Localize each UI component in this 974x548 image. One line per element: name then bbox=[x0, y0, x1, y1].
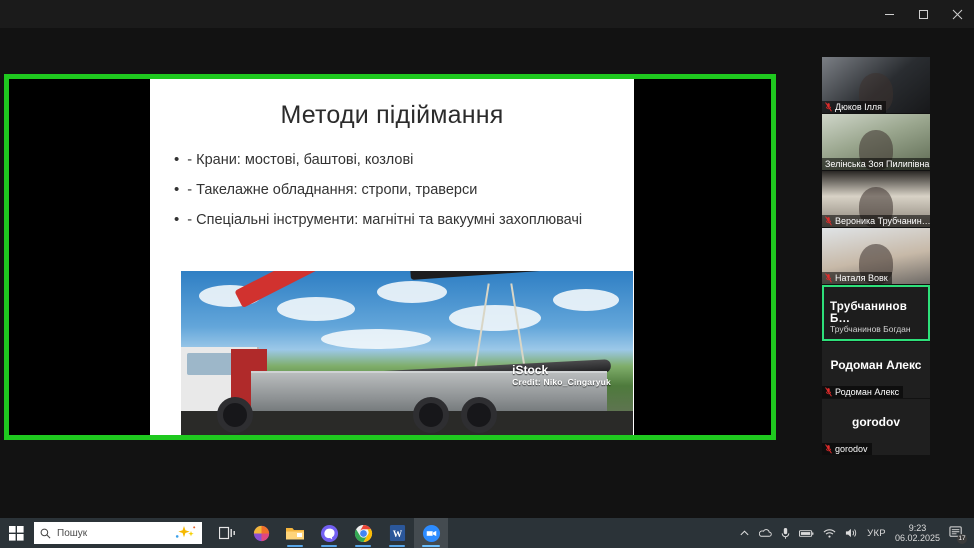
participant-tile[interactable]: Наталя Вовк bbox=[822, 228, 930, 284]
bullet-marker: • bbox=[174, 150, 179, 170]
bullet-marker: • bbox=[174, 210, 179, 230]
onedrive-icon[interactable] bbox=[759, 527, 772, 539]
bullet-text: - Такелажне обладнання: стропи, траверси bbox=[187, 180, 634, 201]
wifi-icon[interactable] bbox=[823, 528, 836, 539]
taskbar-item-task-view[interactable] bbox=[210, 518, 244, 548]
taskbar-item-zoom[interactable] bbox=[414, 518, 448, 548]
system-tray: УКР 9:23 06.02.2025 17 bbox=[739, 523, 974, 544]
clock[interactable]: 9:23 06.02.2025 bbox=[895, 523, 940, 544]
minimize-button[interactable] bbox=[872, 0, 906, 28]
task-view-icon bbox=[219, 526, 236, 541]
taskbar-item-file-explorer[interactable] bbox=[278, 518, 312, 548]
slide-photo-truck-crane: iStock Credit: Niko_Cingaryuk bbox=[181, 271, 633, 435]
presentation-slide: Методи підіймання • - Крани: мостові, ба… bbox=[150, 79, 634, 435]
window-controls bbox=[872, 0, 974, 28]
zoom-meeting-window: Методи підіймання • - Крани: мостові, ба… bbox=[0, 0, 974, 548]
search-input[interactable]: Пошук bbox=[34, 522, 202, 544]
participant-name: Зелінська Зоя Пилипівна bbox=[825, 159, 929, 169]
clock-date: 06.02.2025 bbox=[895, 533, 940, 543]
start-button[interactable] bbox=[0, 518, 32, 548]
list-item: • - Крани: мостові, баштові, козлові bbox=[174, 150, 634, 171]
maximize-icon bbox=[918, 9, 929, 20]
copilot-sparkle-icon bbox=[174, 525, 196, 541]
bullet-text: - Крани: мостові, баштові, козлові bbox=[187, 150, 634, 171]
watermark-text: iStock bbox=[512, 363, 548, 377]
participant-tile[interactable]: Дюков Ілля bbox=[822, 57, 930, 113]
close-button[interactable] bbox=[940, 0, 974, 28]
language-indicator[interactable]: УКР bbox=[867, 528, 886, 539]
participant-name: Вероника Трубчанин… bbox=[835, 216, 930, 226]
volume-icon[interactable] bbox=[845, 527, 858, 539]
participant-name: Наталя Вовк bbox=[835, 273, 888, 283]
taskbar-item-chrome[interactable] bbox=[346, 518, 380, 548]
participant-name: Родоман Алекс bbox=[835, 387, 899, 397]
list-item: • - Такелажне обладнання: стропи, травер… bbox=[174, 180, 634, 201]
search-placeholder: Пошук bbox=[57, 528, 87, 539]
battery-icon[interactable] bbox=[799, 528, 814, 539]
zoom-icon bbox=[422, 524, 441, 543]
mic-muted-icon bbox=[825, 444, 832, 454]
participant-tile[interactable]: Родоман Алекс Родоман Алекс bbox=[822, 342, 930, 398]
participant-name-bar: gorodov bbox=[822, 443, 872, 455]
viber-icon bbox=[320, 524, 339, 543]
active-speaker-full-name: Трубчанинов Богдан bbox=[830, 324, 911, 334]
participant-name-bar: Вероника Трубчанин… bbox=[822, 215, 930, 227]
bullet-marker: • bbox=[174, 180, 179, 200]
mic-muted-icon bbox=[825, 216, 832, 226]
participant-display-name: Родоман Алекс bbox=[822, 358, 930, 372]
participant-display-name: gorodov bbox=[822, 415, 930, 429]
slide-title: Методи підіймання bbox=[150, 101, 634, 130]
crane-boom-upper bbox=[410, 271, 611, 280]
participant-name-bar: Зелінська Зоя Пилипівна bbox=[822, 158, 930, 170]
window-title-bar bbox=[0, 0, 974, 28]
notification-count: 17 bbox=[957, 534, 967, 544]
watermark-credit: Credit: Niko_Cingaryuk bbox=[512, 377, 611, 387]
participant-tile[interactable]: Зелінська Зоя Пилипівна bbox=[822, 114, 930, 170]
participant-name: gorodov bbox=[835, 444, 868, 454]
clock-time: 9:23 bbox=[895, 523, 940, 533]
notifications-button[interactable]: 17 bbox=[949, 525, 966, 542]
participant-name-bar: Наталя Вовк bbox=[822, 272, 892, 284]
windows-logo-icon bbox=[9, 526, 24, 541]
mic-muted-icon bbox=[825, 273, 832, 283]
photo-watermark: iStock Credit: Niko_Cingaryuk bbox=[512, 363, 611, 387]
bullet-text: - Спеціальні інструменти: магнітні та ва… bbox=[187, 210, 634, 231]
participant-name: Дюков Ілля bbox=[835, 102, 882, 112]
close-icon bbox=[952, 9, 963, 20]
participant-tile[interactable]: Вероника Трубчанин… bbox=[822, 171, 930, 227]
participant-name-bar: Дюков Ілля bbox=[822, 101, 886, 113]
taskbar-item-viber[interactable] bbox=[312, 518, 346, 548]
svg-text:W: W bbox=[392, 530, 402, 540]
windows-taskbar: Пошук bbox=[0, 518, 974, 548]
mic-muted-icon bbox=[825, 387, 832, 397]
chrome-icon bbox=[354, 524, 373, 543]
slide-bullet-list: • - Крани: мостові, баштові, козлові • -… bbox=[174, 150, 634, 231]
shared-screen-region[interactable]: Методи підіймання • - Крани: мостові, ба… bbox=[4, 74, 776, 440]
copilot-icon bbox=[252, 524, 271, 543]
participant-tile-active-speaker[interactable]: Трубчанинов Б… Трубчанинов Богдан bbox=[822, 285, 930, 341]
minimize-icon bbox=[884, 9, 895, 20]
search-icon bbox=[40, 528, 51, 539]
file-explorer-icon bbox=[285, 525, 305, 542]
taskbar-item-copilot[interactable] bbox=[244, 518, 278, 548]
taskbar-items: W bbox=[210, 518, 448, 548]
taskbar-item-word[interactable]: W bbox=[380, 518, 414, 548]
participant-name-bar: Родоман Алекс bbox=[822, 386, 903, 398]
list-item: • - Спеціальні інструменти: магнітні та … bbox=[174, 210, 634, 231]
chevron-up-icon[interactable] bbox=[739, 528, 750, 539]
mic-icon[interactable] bbox=[781, 527, 790, 540]
mic-muted-icon bbox=[825, 102, 832, 112]
word-icon: W bbox=[389, 524, 406, 542]
active-speaker-name: Трубчанинов Б… bbox=[830, 301, 928, 325]
maximize-button[interactable] bbox=[906, 0, 940, 28]
participant-filmstrip[interactable]: Дюков Ілля Зелінська Зоя Пилипівна Верон… bbox=[822, 57, 930, 456]
participant-tile[interactable]: gorodov gorodov bbox=[822, 399, 930, 455]
